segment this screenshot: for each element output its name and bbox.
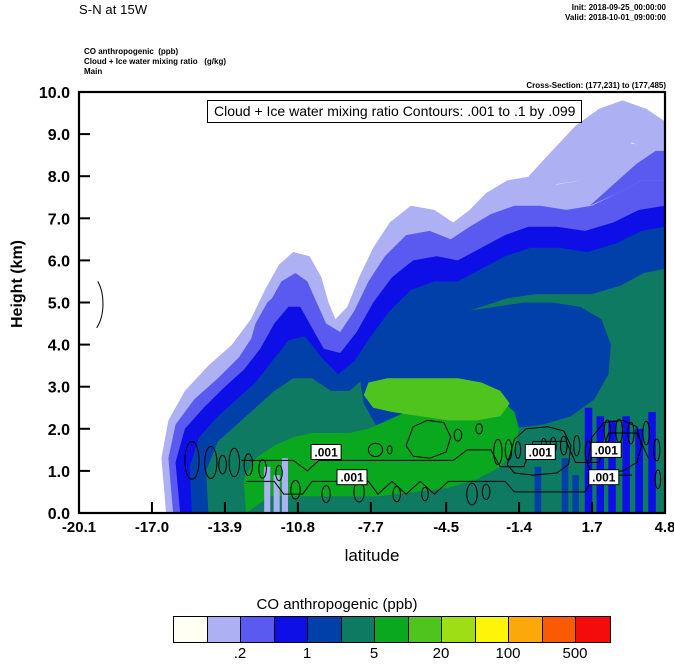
colorbar-label-2: 5	[370, 645, 378, 662]
y-tick-label-10: 10.0	[39, 85, 70, 102]
x-tick-label-3: -10.8	[281, 519, 315, 536]
fill-streak-blue-2	[608, 420, 616, 513]
colorbar-swatch-0	[174, 617, 208, 642]
colorbar-swatch-12	[576, 617, 610, 642]
x-tick-label-7: 1.7	[582, 519, 603, 536]
contour-label-4: .001	[592, 471, 616, 485]
colorbar-swatch-5	[342, 617, 376, 642]
colorbar-swatch-8	[442, 617, 476, 642]
y-tick-label-2: 2.0	[48, 422, 70, 439]
fill-streak-blue-4	[635, 429, 643, 513]
colorbar-swatch-3	[275, 617, 309, 642]
x-tick-label-2: -13.9	[208, 519, 242, 536]
x-tick-label-4: -7.7	[358, 519, 384, 536]
y-tick-label-3: 3.0	[48, 380, 70, 397]
fill-streak-darkblue-2	[572, 475, 579, 513]
colorbar-label-3: 20	[433, 645, 450, 662]
y-tick-label-4: 4.0	[48, 338, 70, 355]
y-tick-label-6: 6.0	[48, 253, 70, 270]
contour-title-box: Cloud + Ice water mixing ratio Contours:…	[207, 100, 582, 123]
colorbar-title: CO anthropogenic (ppb)	[0, 596, 674, 613]
contour-title-text: Cloud + Ice water mixing ratio Contours:…	[214, 103, 575, 119]
x-tick-label-5: -4.5	[433, 519, 459, 536]
x-tick-label-8: 4.8	[655, 519, 674, 536]
x-tick-label-0: -20.1	[62, 519, 96, 536]
y-tick-label-8: 8.0	[48, 169, 70, 186]
colorbar-swatch-2	[241, 617, 275, 642]
y-tick-label-5: 5.0	[48, 296, 70, 313]
colorbar-swatch-11	[543, 617, 577, 642]
colorbar-swatch-6	[375, 617, 409, 642]
fill-streak-blue-3	[622, 416, 630, 513]
colorbar	[173, 616, 611, 643]
colorbar-tick-labels: .21520100500	[0, 645, 674, 665]
x-tick-label-6: -1.4	[506, 519, 533, 536]
colorbar-label-5: 500	[562, 645, 587, 662]
y-tick-label-9: 9.0	[48, 127, 70, 144]
colorbar-swatch-7	[409, 617, 443, 642]
contour-label-0: .001	[314, 446, 338, 460]
colorbar-swatch-4	[308, 617, 342, 642]
contour-label-1: .001	[340, 471, 364, 485]
y-axis-title: Height (km)	[9, 219, 27, 349]
fill-streak-darkblue-0	[535, 467, 542, 513]
y-tick-label-1: 1.0	[48, 464, 70, 481]
colorbar-label-0: .2	[234, 645, 247, 662]
fill-streak-light-0	[264, 467, 270, 513]
x-axis-title: latitude	[0, 546, 674, 566]
colorbar-swatch-9	[476, 617, 510, 642]
colorbar-swatch-10	[509, 617, 543, 642]
contour-label-3: .001	[595, 443, 619, 457]
colorbar-label-1: 1	[303, 645, 311, 662]
fill-streak-light-2	[282, 458, 288, 513]
plot-svg: .001.001.001.001.0010.01.02.03.04.05.06.…	[0, 0, 674, 600]
x-tick-label-1: -17.0	[135, 519, 169, 536]
cross-section-plot: .001.001.001.001.0010.01.02.03.04.05.06.…	[0, 0, 674, 600]
colorbar-swatch-1	[208, 617, 242, 642]
contour-label-2: .001	[529, 446, 553, 460]
colorbar-label-4: 100	[495, 645, 520, 662]
y-tick-label-7: 7.0	[48, 211, 70, 228]
